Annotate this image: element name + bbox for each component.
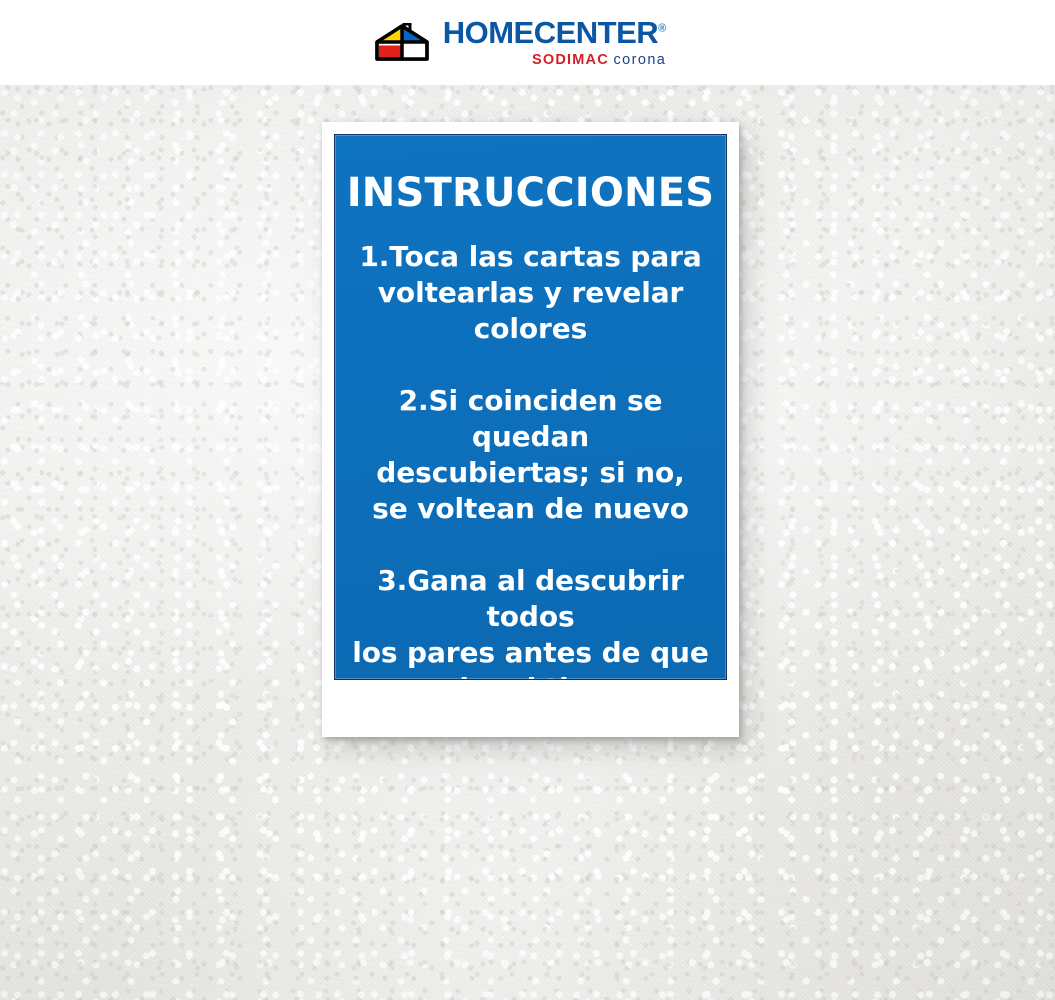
logo-wordmark: HOMECENTER® SODIMAC corona bbox=[443, 17, 667, 68]
instruction-step-1: 1.Toca las cartas para voltearlas y reve… bbox=[335, 239, 726, 347]
logo-brand-label: HOMECENTER bbox=[443, 15, 658, 50]
instruction-step-2: 2.Si coinciden se quedan descubiertas; s… bbox=[335, 383, 726, 527]
site-header: HOMECENTER® SODIMAC corona bbox=[0, 0, 1055, 85]
registered-trademark-icon: ® bbox=[658, 23, 666, 35]
logo-brand-text: HOMECENTER® bbox=[443, 17, 667, 48]
instruction-step-3: 3.Gana al descubrir todos los pares ante… bbox=[335, 563, 726, 680]
logo-subbrand: SODIMAC corona bbox=[532, 53, 666, 68]
logo-corona-label: corona bbox=[614, 52, 667, 68]
poster-blue-panel: INSTRUCCIONES 1.Toca las cartas para vol… bbox=[334, 134, 727, 680]
instructions-poster: INSTRUCCIONES 1.Toca las cartas para vol… bbox=[322, 122, 739, 737]
logo-sodimac-label: SODIMAC bbox=[532, 52, 609, 68]
instruction-steps-list: 1.Toca las cartas para voltearlas y reve… bbox=[335, 239, 726, 680]
house-logo-icon bbox=[373, 23, 431, 63]
homecenter-logo[interactable]: HOMECENTER® SODIMAC corona bbox=[373, 17, 667, 68]
page-title: INSTRUCCIONES bbox=[347, 173, 715, 213]
page-root: HOMECENTER® SODIMAC corona INSTRUCCIONES… bbox=[0, 0, 1055, 1000]
